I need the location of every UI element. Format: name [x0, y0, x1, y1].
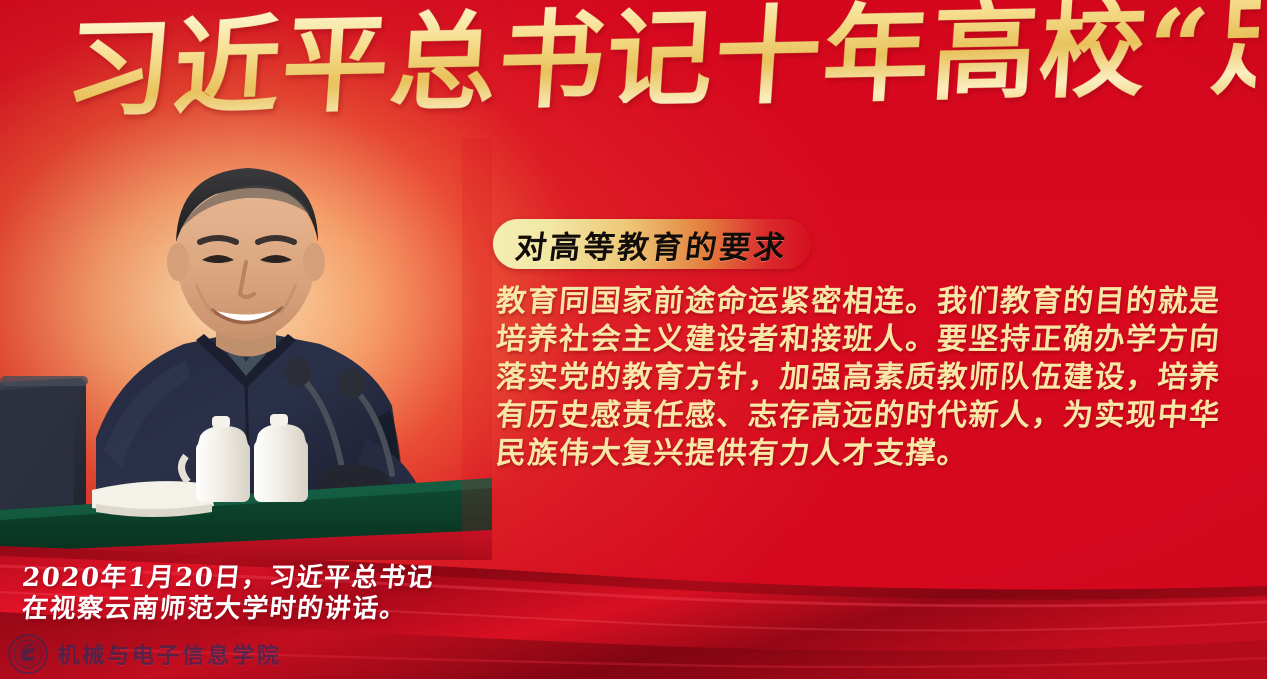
photo-caption: 2020年1月20日，习近平总书记 在视察云南师范大学时的讲话。 [22, 563, 542, 625]
quote-line: 有历史感责任感、志存高远的时代新人，为实现中华 [494, 397, 1257, 435]
caption-line: 在视察云南师范大学时的讲话。 [20, 594, 543, 625]
quote-line: 民族伟大复兴提供有力人才支撑。 [494, 435, 1257, 473]
university-emblem-icon [8, 634, 48, 674]
section-badge: 对高等教育的要求 [493, 219, 811, 269]
poster-title-text: 习近平总书记十年高校“足迹” [62, 0, 1262, 132]
quote-paragraph: 教育同国家前途命运紧密相连。我们教育的目的就是 培养社会主义建设者和接班人。要坚… [496, 283, 1256, 473]
footer-branding: 机械与电子信息学院 [8, 634, 282, 674]
section-badge-label: 对高等教育的要求 [490, 219, 814, 269]
caption-line: 2020年1月20日，习近平总书记 [20, 563, 543, 594]
leader-photo [0, 138, 492, 560]
college-name: 机械与电子信息学院 [57, 638, 282, 670]
poster-title: 习近平总书记十年高校“足迹” [66, 8, 1256, 140]
poster-canvas: 习近平总书记十年高校“足迹” 对高等教育的要求 教育同国家前途命运紧密相连。我们… [0, 0, 1267, 679]
quote-line: 落实党的教育方针，加强高素质教师队伍建设，培养 [494, 359, 1257, 397]
quote-line: 教育同国家前途命运紧密相连。我们教育的目的就是 [494, 283, 1257, 321]
quote-line: 培养社会主义建设者和接班人。要坚持正确办学方向 [494, 321, 1257, 359]
